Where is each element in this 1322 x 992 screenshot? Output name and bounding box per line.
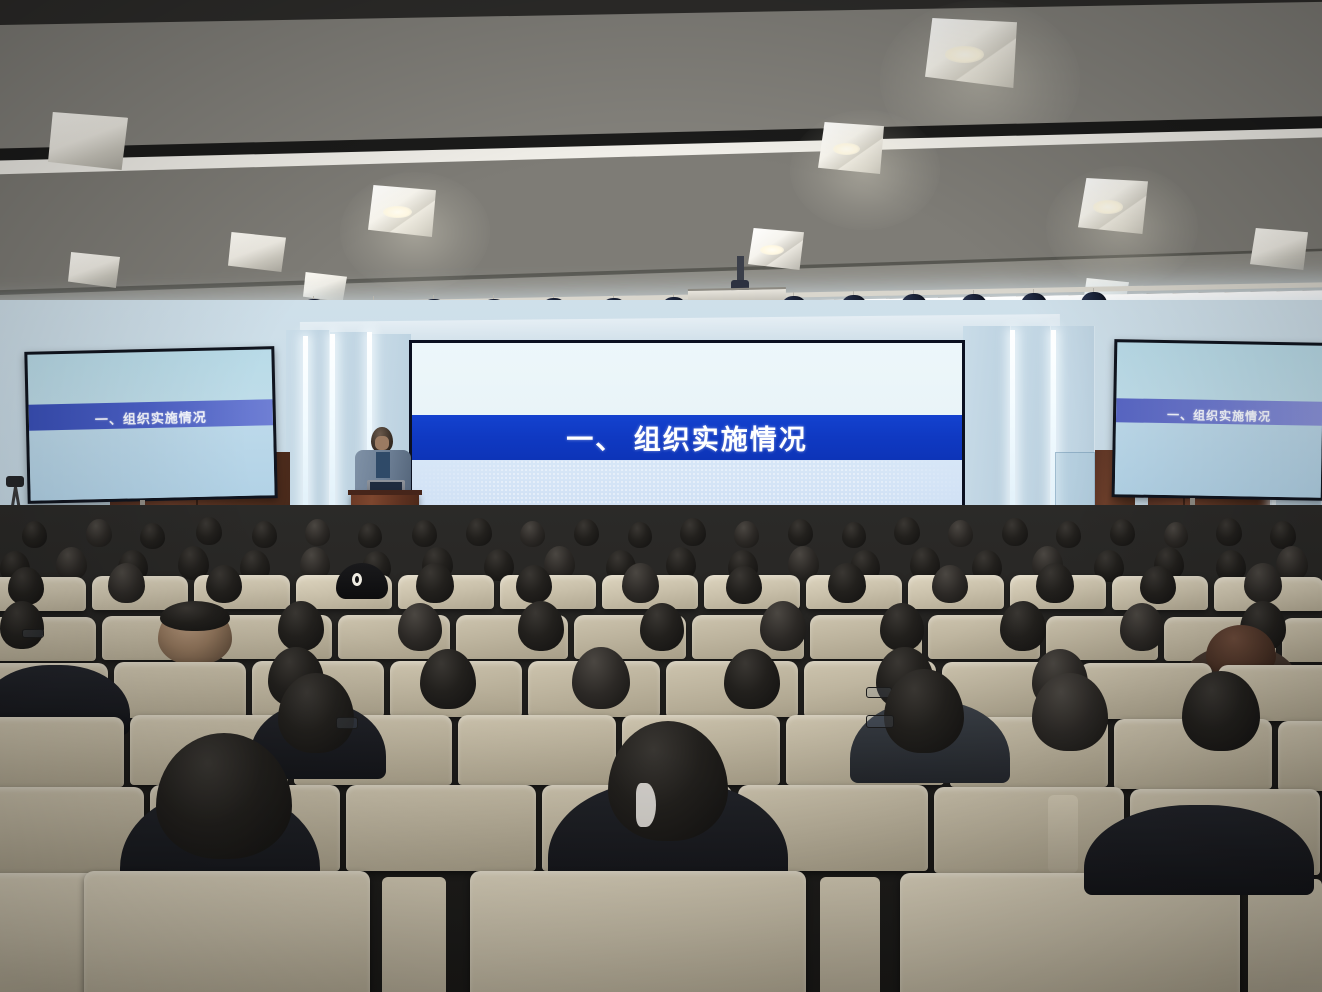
audience-head bbox=[640, 603, 684, 651]
audience-head bbox=[932, 565, 968, 603]
seat-armrest bbox=[820, 877, 880, 992]
audience-head bbox=[252, 521, 277, 548]
face-mask bbox=[636, 783, 656, 827]
audience-head bbox=[420, 649, 476, 709]
audience-head bbox=[108, 563, 145, 603]
auditorium-seat[interactable] bbox=[1278, 721, 1322, 791]
audience-head bbox=[520, 521, 545, 547]
audience-head bbox=[518, 601, 564, 651]
auditorium-seat[interactable] bbox=[114, 662, 246, 718]
auditorium-seat[interactable] bbox=[458, 715, 616, 785]
audience-glasses bbox=[22, 629, 44, 638]
audience-head bbox=[1120, 603, 1164, 651]
audience-head bbox=[724, 649, 780, 709]
auditorium-seat[interactable] bbox=[1282, 618, 1322, 662]
auditorium-seat[interactable] bbox=[84, 871, 370, 992]
left-screen-surface: 一、组织实施情况 bbox=[27, 349, 274, 500]
right-projection-screen[interactable]: 一、组织实施情况 bbox=[1112, 339, 1322, 501]
audience-head bbox=[1164, 522, 1188, 548]
speaker-face bbox=[375, 436, 389, 450]
audience-head bbox=[56, 547, 87, 580]
led-wall-surface: 一、 组织实施情况 bbox=[412, 343, 962, 517]
left-projection-screen[interactable]: 一、组织实施情况 bbox=[24, 346, 277, 504]
audience-head bbox=[760, 601, 806, 651]
audience-head bbox=[516, 565, 552, 603]
slide-title-band: 一、 组织实施情况 bbox=[412, 415, 962, 460]
video-camera bbox=[6, 476, 24, 487]
audience-head bbox=[398, 603, 442, 651]
audience-head bbox=[412, 520, 437, 547]
center-led-wall[interactable]: 一、 组织实施情况 bbox=[409, 340, 965, 520]
audience-head bbox=[1000, 601, 1046, 651]
lighting-truss bbox=[0, 0, 1322, 340]
audience-head bbox=[0, 601, 44, 649]
right-screen-lower bbox=[1115, 422, 1322, 498]
left-screen-lower bbox=[29, 425, 275, 501]
right-screen-surface: 一、组织实施情况 bbox=[1115, 342, 1322, 498]
audience-head bbox=[1276, 546, 1308, 581]
audience-head bbox=[628, 522, 652, 548]
audience-head bbox=[1216, 518, 1242, 546]
audience-head bbox=[1244, 563, 1282, 603]
audience-head bbox=[842, 522, 866, 548]
audience-head bbox=[140, 523, 165, 549]
audience-head bbox=[788, 519, 813, 546]
audience-head bbox=[466, 518, 492, 546]
audience-head bbox=[948, 520, 973, 547]
audience-head bbox=[622, 563, 659, 603]
audience-head bbox=[22, 521, 47, 548]
audience-head bbox=[8, 567, 44, 605]
projector-mount-pole bbox=[737, 256, 744, 282]
audience-glasses bbox=[336, 717, 358, 729]
audience-head bbox=[278, 601, 324, 651]
seat-armrest bbox=[382, 877, 446, 992]
audience-head bbox=[1036, 563, 1074, 603]
audience-head bbox=[734, 521, 759, 548]
audience-head bbox=[206, 565, 242, 603]
audience-head bbox=[305, 519, 330, 546]
podium-top-edge bbox=[348, 490, 422, 495]
seat-armrest bbox=[1248, 879, 1322, 992]
audience-head bbox=[1270, 521, 1296, 549]
audience-head bbox=[160, 601, 230, 631]
audience-head bbox=[86, 519, 112, 547]
auditorium-seat[interactable] bbox=[0, 717, 124, 787]
audience-head bbox=[680, 518, 706, 546]
audience-head bbox=[828, 563, 866, 603]
audience-head bbox=[1140, 566, 1176, 604]
right-screen-title: 一、组织实施情况 bbox=[1167, 406, 1271, 425]
auditorium-seat[interactable] bbox=[346, 785, 536, 871]
slide-upper-area bbox=[412, 343, 962, 415]
audience-head bbox=[880, 603, 924, 651]
left-screen-title: 一、组织实施情况 bbox=[95, 406, 207, 428]
audience-head bbox=[1002, 518, 1028, 546]
cap-logo bbox=[352, 573, 362, 586]
audience-seating bbox=[0, 505, 1322, 992]
audience-head bbox=[572, 647, 630, 709]
audience-head bbox=[1056, 521, 1081, 548]
audience-head bbox=[416, 563, 454, 603]
audience-head bbox=[574, 519, 599, 546]
audience-head bbox=[196, 517, 222, 545]
audience-head bbox=[358, 523, 382, 548]
wall-panel-recess bbox=[1055, 452, 1095, 508]
audience-head bbox=[894, 517, 920, 545]
ceiling bbox=[0, 0, 1322, 340]
audience-glasses bbox=[866, 715, 894, 728]
speaker-shirt bbox=[376, 452, 390, 478]
seat-armrest bbox=[1048, 795, 1078, 873]
audience-head bbox=[1110, 519, 1135, 546]
audience-head bbox=[726, 566, 762, 604]
slide-title: 一、 组织实施情况 bbox=[566, 418, 808, 457]
auditorium-seat[interactable] bbox=[470, 871, 806, 992]
auditorium-photo: 会议签到处 一、组织实施情况 一、 组织实施情况 bbox=[0, 0, 1322, 992]
